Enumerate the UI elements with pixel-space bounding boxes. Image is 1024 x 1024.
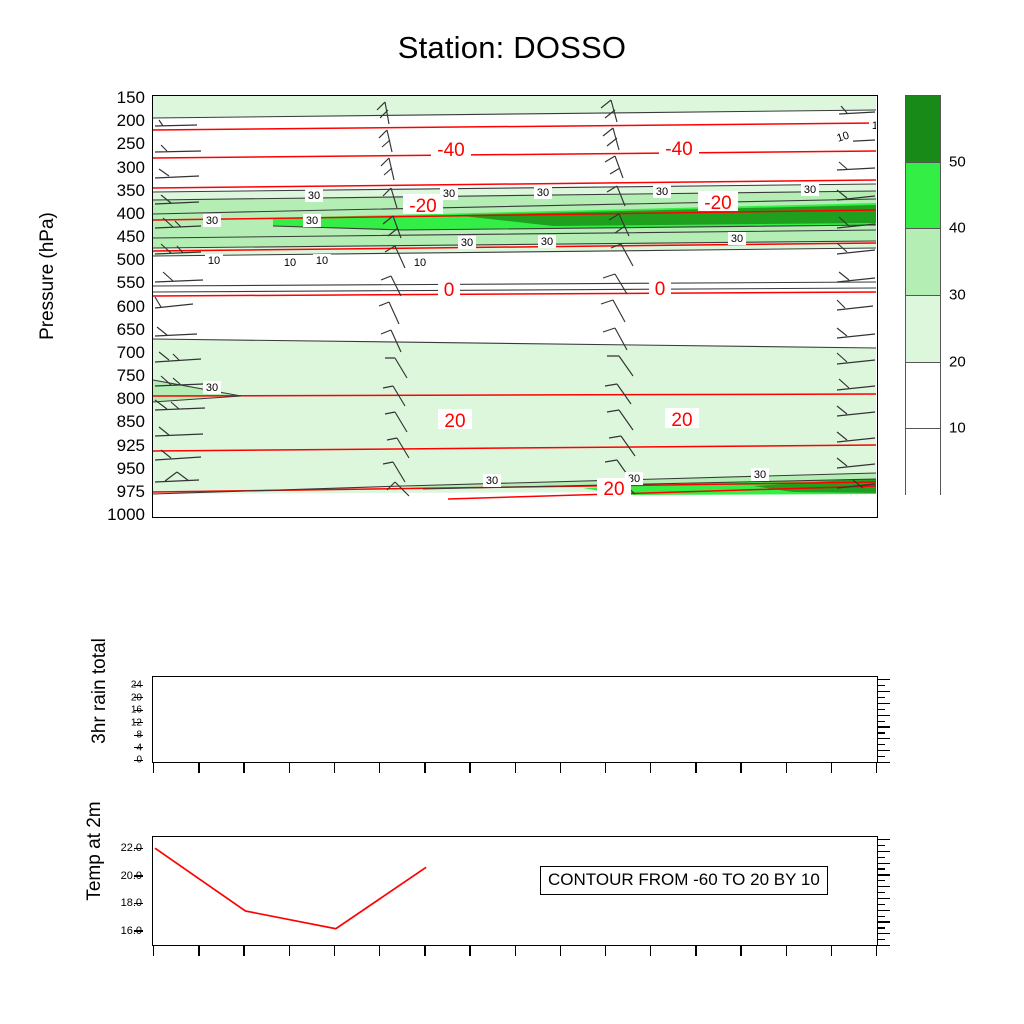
x-tick-mark [786, 762, 787, 773]
pressure-tick-600: 600 [117, 297, 145, 317]
svg-text:0: 0 [444, 280, 455, 301]
x-tick-mark [876, 945, 877, 956]
svg-text:30: 30 [754, 469, 766, 481]
x-tick-mark [695, 762, 696, 773]
colorbar-band-40-50 [905, 162, 941, 229]
x-tick-mark [289, 945, 290, 956]
x-tick-mark [153, 945, 154, 956]
x-tick-mark [379, 762, 380, 773]
sounding-contour-plot: 10 10 30 30 30 30 30 30 30 30 30 30 10 1… [153, 96, 876, 516]
pressure-tick-700: 700 [117, 343, 145, 363]
svg-text:20: 20 [671, 410, 692, 431]
x-tick-mark [605, 945, 606, 956]
svg-text:30: 30 [656, 186, 668, 198]
x-tick-mark [740, 762, 741, 773]
colorbar-band-50+ [905, 95, 941, 162]
sounding-panel[interactable]: 10 10 30 30 30 30 30 30 30 30 30 30 10 1… [152, 95, 878, 518]
y-minor-tick [877, 726, 890, 727]
y-minor-tick [877, 732, 885, 733]
svg-text:-20: -20 [409, 196, 436, 217]
svg-text:30: 30 [731, 233, 743, 245]
svg-text:0: 0 [655, 279, 666, 300]
x-tick-mark [379, 945, 380, 956]
temp-tick-mark [134, 848, 143, 849]
x-tick-mark [560, 945, 561, 956]
y-minor-tick [877, 839, 890, 840]
pressure-tick-925: 925 [117, 436, 145, 456]
x-tick-mark [469, 762, 470, 773]
svg-text:10: 10 [872, 120, 876, 132]
pressure-tick-1000: 1000 [107, 505, 145, 525]
x-tick-mark [650, 762, 651, 773]
colorbar-band-30-40 [905, 228, 941, 295]
y-minor-tick [877, 933, 890, 934]
y-minor-tick [877, 886, 890, 887]
rain-tick-mark [134, 710, 143, 711]
svg-text:10: 10 [208, 255, 220, 267]
x-tick-mark [334, 762, 335, 773]
y-minor-tick [877, 880, 885, 881]
pressure-axis-labels: 1502002503003504004505005506006507007508… [60, 95, 145, 518]
x-tick-mark [469, 945, 470, 956]
y-minor-tick [877, 845, 885, 846]
x-tick-mark [198, 762, 199, 773]
x-tick-mark [153, 762, 154, 773]
svg-text:30: 30 [804, 184, 816, 196]
y-minor-tick [877, 939, 885, 940]
y-minor-tick [877, 738, 890, 739]
y-minor-tick [877, 910, 890, 911]
rain-tick-mark [134, 747, 143, 748]
y-minor-tick [877, 898, 890, 899]
x-tick-mark [243, 945, 244, 956]
y-minor-tick [877, 715, 890, 716]
pressure-tick-950: 950 [117, 459, 145, 479]
pressure-tick-200: 200 [117, 111, 145, 131]
y-minor-tick [877, 744, 885, 745]
pressure-axis-title: Pressure (hPa) [37, 156, 59, 396]
y-minor-tick [877, 904, 885, 905]
svg-text:30: 30 [206, 382, 218, 394]
y-minor-tick [877, 892, 885, 893]
pressure-tick-800: 800 [117, 389, 145, 409]
y-minor-tick [877, 762, 890, 763]
colorbar-band-10-20 [905, 362, 941, 429]
x-tick-mark [740, 945, 741, 956]
colorbar-tick-20: 20 [949, 353, 966, 370]
colorbar-band-0-10 [905, 428, 941, 495]
rain-tick-mark [134, 722, 143, 723]
y-minor-tick [877, 703, 890, 704]
svg-text:30: 30 [306, 215, 318, 227]
wind-speed-colorbar[interactable]: 5040302010 [905, 95, 941, 495]
y-minor-tick [877, 709, 885, 710]
rain-plot [153, 677, 876, 761]
x-tick-mark [695, 945, 696, 956]
pressure-tick-650: 650 [117, 320, 145, 340]
svg-text:-40: -40 [437, 140, 464, 161]
y-minor-tick [877, 685, 885, 686]
pressure-tick-150: 150 [117, 88, 145, 108]
y-minor-tick [877, 868, 885, 869]
x-tick-mark [831, 762, 832, 773]
x-tick-mark [786, 945, 787, 956]
svg-text:10: 10 [284, 257, 296, 269]
temp-tick-mark [134, 930, 143, 931]
y-minor-tick [877, 921, 890, 922]
pressure-tick-350: 350 [117, 181, 145, 201]
svg-text:30: 30 [308, 190, 320, 202]
svg-text:-20: -20 [704, 193, 731, 214]
x-tick-mark [876, 762, 877, 773]
x-tick-mark [289, 762, 290, 773]
colorbar-band-20-30 [905, 295, 941, 362]
colorbar-tick-40: 40 [949, 220, 966, 237]
rain-axis-labels: 04812162024 [100, 676, 142, 763]
y-minor-tick [877, 863, 890, 864]
colorbar-tick-10: 10 [949, 420, 966, 437]
rain-tick-mark [134, 735, 143, 736]
pressure-tick-750: 750 [117, 366, 145, 386]
y-minor-tick [877, 756, 885, 757]
y-minor-tick [877, 721, 885, 722]
pressure-tick-250: 250 [117, 134, 145, 154]
svg-text:30: 30 [206, 215, 218, 227]
x-tick-mark [198, 945, 199, 956]
x-tick-mark [424, 945, 425, 956]
svg-text:30: 30 [537, 187, 549, 199]
y-minor-tick [877, 750, 890, 751]
svg-text:10: 10 [316, 255, 328, 267]
x-tick-mark [831, 945, 832, 956]
svg-text:30: 30 [541, 236, 553, 248]
y-minor-tick [877, 916, 885, 917]
svg-text:10: 10 [414, 257, 426, 269]
y-minor-tick [877, 857, 885, 858]
x-tick-mark [560, 762, 561, 773]
svg-text:-40: -40 [665, 139, 692, 160]
temp-tick-mark [134, 903, 143, 904]
contour-annotation: CONTOUR FROM -60 TO 20 BY 10 [540, 866, 828, 895]
x-tick-mark [424, 762, 425, 773]
temp-series-line [155, 848, 426, 929]
x-tick-mark [605, 762, 606, 773]
y-minor-tick [877, 691, 890, 692]
x-tick-mark [243, 762, 244, 773]
pressure-tick-975: 975 [117, 482, 145, 502]
pressure-tick-500: 500 [117, 250, 145, 270]
rain-panel[interactable] [152, 676, 878, 763]
y-minor-tick [877, 874, 890, 875]
y-minor-tick [877, 697, 885, 698]
pressure-tick-300: 300 [117, 158, 145, 178]
colorbar-tick-30: 30 [949, 287, 966, 304]
y-minor-tick [877, 679, 890, 680]
svg-text:20: 20 [444, 411, 465, 432]
rain-tick-mark [134, 685, 143, 686]
svg-text:20: 20 [603, 479, 624, 500]
temp-axis-labels: 16.018.020.022.0 [92, 836, 142, 946]
x-tick-mark [334, 945, 335, 956]
pressure-tick-850: 850 [117, 412, 145, 432]
pressure-tick-400: 400 [117, 204, 145, 224]
pressure-tick-550: 550 [117, 273, 145, 293]
y-minor-tick [877, 945, 890, 946]
x-tick-mark [650, 945, 651, 956]
temp-tick-mark [134, 875, 143, 876]
svg-text:30: 30 [461, 237, 473, 249]
x-tick-mark [515, 945, 516, 956]
y-minor-tick [877, 851, 890, 852]
page-title: Station: DOSSO [0, 30, 1024, 66]
y-minor-tick [877, 927, 885, 928]
rain-tick-mark [134, 760, 143, 761]
svg-text:30: 30 [486, 475, 498, 487]
rain-tick-mark [134, 697, 143, 698]
svg-text:30: 30 [443, 188, 455, 200]
colorbar-tick-50: 50 [949, 153, 966, 170]
x-tick-mark [515, 762, 516, 773]
pressure-tick-450: 450 [117, 227, 145, 247]
